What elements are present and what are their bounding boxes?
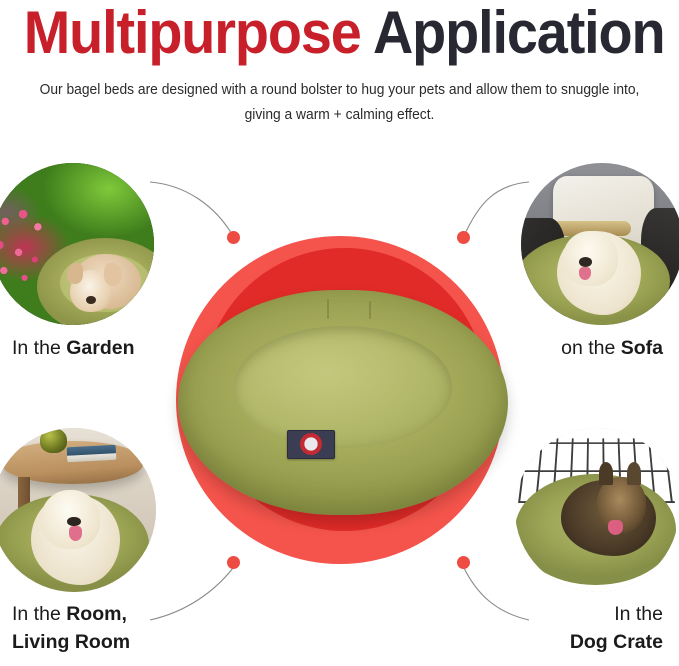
caption-sofa-prefix: on the (561, 337, 621, 359)
caption-sofa-bold: Sofa (621, 337, 663, 359)
connector-line-sofa (464, 182, 529, 236)
caption-dog-crate-line1: In the (570, 600, 663, 628)
caption-living-room: In the Room, Living Room (12, 600, 130, 656)
caption-living-room-line2: Living Room (12, 628, 130, 656)
caption-sofa: on the Sofa (561, 334, 663, 362)
caption-garden-bold: Garden (66, 337, 134, 359)
caption-living-room-line1: In the Room, (12, 600, 130, 628)
infographic-page: Multipurpose Application Our bagel beds … (0, 0, 679, 666)
caption-garden-prefix: In the (12, 337, 66, 359)
connector-lines (0, 0, 679, 666)
connector-dot-garden (227, 231, 240, 244)
caption-living-room-bold: Room, (66, 603, 127, 625)
connector-line-garden (150, 182, 233, 236)
caption-living-room-bold2: Living Room (12, 631, 130, 653)
caption-dog-crate: In the Dog Crate (570, 600, 663, 656)
connector-dot-living-room (227, 556, 240, 569)
caption-living-room-prefix: In the (12, 603, 66, 625)
caption-dog-crate-bold2: Dog Crate (570, 631, 663, 653)
caption-garden: In the Garden (12, 334, 135, 362)
connector-line-living-room (150, 568, 233, 620)
caption-dog-crate-line2: Dog Crate (570, 628, 663, 656)
connector-dot-sofa (457, 231, 470, 244)
connector-dot-dog-crate (457, 556, 470, 569)
connector-line-dog-crate (464, 568, 529, 620)
